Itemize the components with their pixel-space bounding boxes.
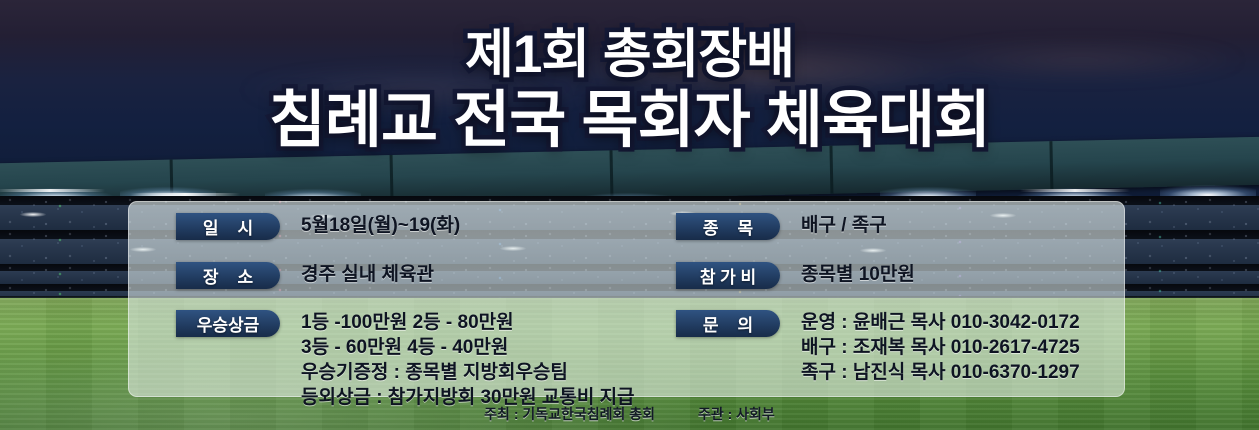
info-value: 배구 / 족구	[801, 213, 887, 238]
footer-organizer: 주관 : 사회부	[698, 406, 775, 422]
info-label-badge: 종 목	[676, 213, 780, 240]
info-value-line: 운영 : 윤배근 목사 010-3042-0172	[801, 310, 1080, 335]
info-label-badge: 장 소	[176, 262, 280, 289]
info-label-badge: 문 의	[676, 310, 780, 337]
info-value-line: 경주 실내 체육관	[301, 262, 434, 287]
info-label-text: 장 소	[203, 263, 253, 288]
info-value: 운영 : 윤배근 목사 010-3042-0172배구 : 조재복 목사 010…	[801, 310, 1080, 385]
info-value: 1등 -100만원 2등 - 80만원3등 - 60만원 4등 - 40만원우승…	[301, 310, 635, 410]
info-value: 5월18일(월)~19(화)	[301, 213, 460, 238]
info-value-line: 족구 : 남진식 목사 010-6370-1297	[801, 360, 1080, 385]
info-row: 종 목배구 / 족구	[676, 213, 887, 240]
info-value-line: 1등 -100만원 2등 - 80만원	[301, 310, 635, 335]
info-value-line: 배구 : 조재복 목사 010-2617-4725	[801, 335, 1080, 360]
title-block: 제1회 총회장배 침례교 전국 목회자 체육대회	[0, 28, 1259, 152]
info-label-badge: 참 가 비	[676, 262, 780, 289]
info-row: 장 소경주 실내 체육관	[176, 262, 434, 289]
info-row: 일 시5월18일(월)~19(화)	[176, 213, 460, 240]
info-value-line: 우승기증정 : 종목별 지방회우승팀	[301, 360, 635, 385]
info-label-badge: 일 시	[176, 213, 280, 240]
info-value: 종목별 10만원	[801, 262, 915, 287]
info-label-badge: 우승상금	[176, 310, 280, 337]
page-title: 제1회 총회장배	[0, 28, 1259, 82]
footer: 주최 : 기독교한국침례회 총회 주관 : 사회부	[0, 404, 1259, 424]
info-value-line: 3등 - 60만원 4등 - 40만원	[301, 335, 635, 360]
info-panel: 일 시5월18일(월)~19(화)장 소경주 실내 체육관우승상금1등 -100…	[128, 201, 1125, 397]
footer-host: 주최 : 기독교한국침례회 총회	[484, 406, 655, 422]
info-value-line: 종목별 10만원	[801, 262, 915, 287]
info-value: 경주 실내 체육관	[301, 262, 434, 287]
info-label-text: 문 의	[703, 311, 753, 336]
info-row: 참 가 비종목별 10만원	[676, 262, 915, 289]
page-subtitle: 침례교 전국 목회자 체육대회	[0, 89, 1259, 152]
info-label-text: 우승상금	[197, 311, 260, 336]
info-row: 문 의운영 : 윤배근 목사 010-3042-0172배구 : 조재복 목사 …	[676, 310, 1080, 385]
event-banner: 제1회 총회장배 침례교 전국 목회자 체육대회 일 시5월18일(월)~19(…	[0, 0, 1259, 430]
info-value-line: 배구 / 족구	[801, 213, 887, 238]
info-value-line: 5월18일(월)~19(화)	[301, 213, 460, 238]
info-label-text: 참 가 비	[700, 263, 756, 288]
info-row: 우승상금1등 -100만원 2등 - 80만원3등 - 60만원 4등 - 40…	[176, 310, 635, 410]
info-label-text: 종 목	[703, 214, 753, 239]
info-label-text: 일 시	[203, 214, 253, 239]
